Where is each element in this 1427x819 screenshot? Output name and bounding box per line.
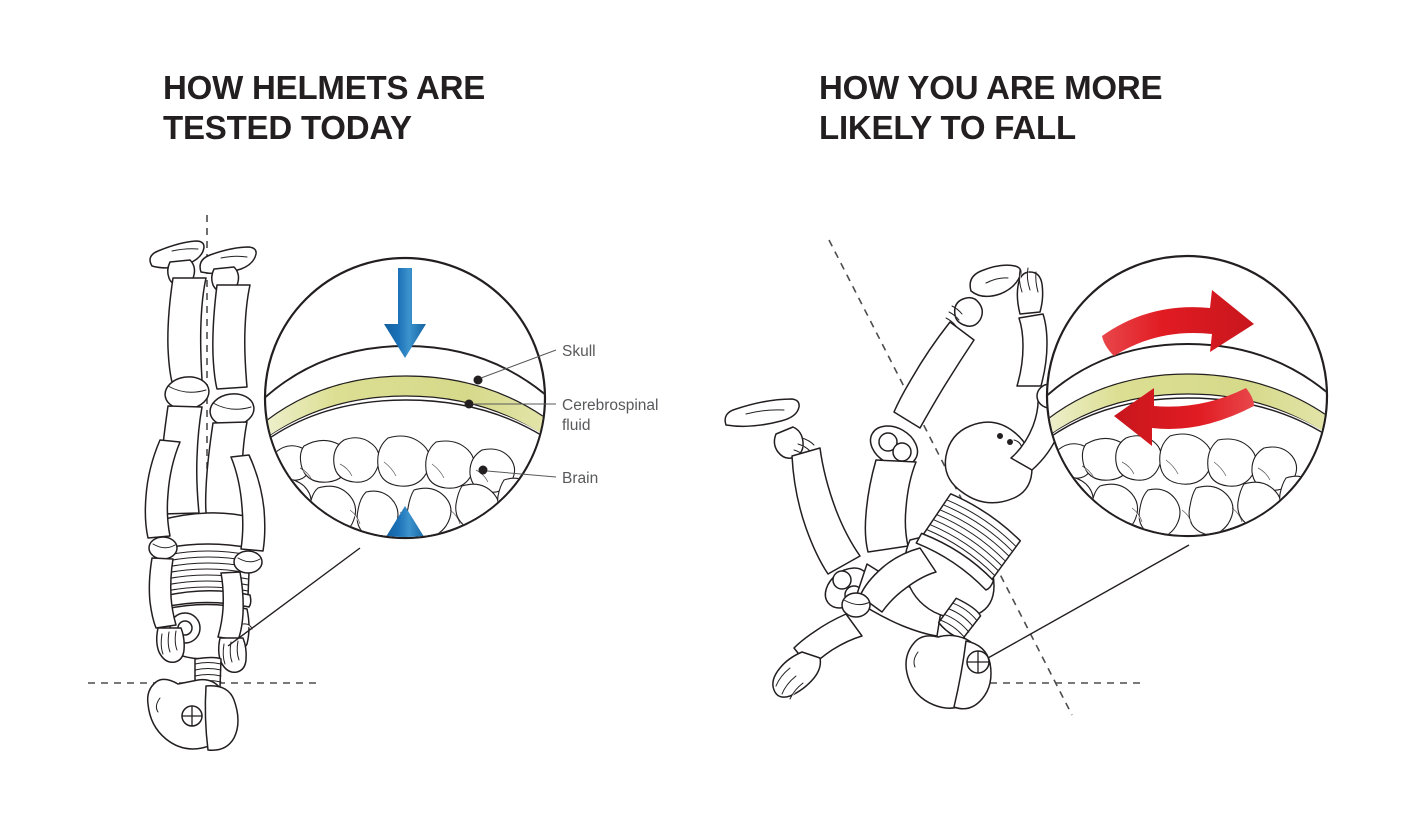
brain-label: Brain [562, 470, 598, 487]
dummy-foot-extended [725, 399, 799, 426]
figure-rotational-impact [714, 0, 1427, 819]
dummy-shin-left [168, 278, 206, 382]
dummy-shin-extended [792, 448, 860, 574]
dummy-thigh-raised [865, 460, 916, 552]
skull-label: Skull [562, 343, 596, 360]
csf-label-line-1: Cerebrospinal [562, 397, 659, 414]
crash-test-dummy-inverted [145, 241, 264, 750]
csf-label-line-2: fluid [562, 417, 590, 434]
panel-linear-impact: HOW HELMETS ARE TESTED TODAY [0, 0, 713, 819]
dummy-forearm-far [1017, 314, 1047, 386]
dummy-shin-raised [894, 322, 974, 428]
dummy-shin-right [213, 285, 250, 389]
csf-callout-dot [465, 400, 474, 409]
panel-rotational-impact: HOW YOU ARE MORE LIKELY TO FALL [714, 0, 1427, 819]
dummy-hand-far [1017, 272, 1042, 314]
dummy-helmet-shell [205, 686, 238, 750]
dummy-ankle-raised [955, 298, 983, 327]
brain-callout-dot [479, 466, 488, 475]
figure-linear-impact: Skull Cerebrospinal fluid Brain [0, 0, 713, 819]
callout-leader-line [988, 545, 1189, 658]
crash-test-dummy-oblique [725, 265, 1071, 709]
infographic-canvas: HOW HELMETS ARE TESTED TODAY [0, 0, 1427, 819]
skull-callout-dot [474, 376, 483, 385]
